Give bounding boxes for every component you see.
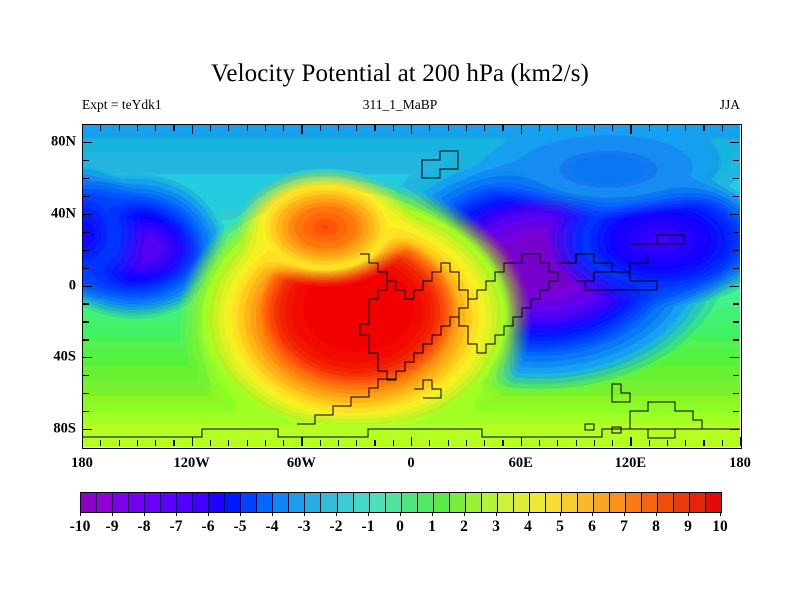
colorbar: [80, 492, 722, 513]
x-tick-bottom: [119, 440, 120, 446]
y-tick-left: [83, 339, 89, 340]
colorbar-band: [609, 493, 625, 512]
colorbar-band: [465, 493, 481, 512]
x-tick-bottom: [137, 440, 138, 446]
season-label: JJA: [0, 97, 740, 113]
x-tick-bottom: [411, 437, 412, 446]
colorbar-band: [112, 493, 128, 512]
colorbar-label: 1: [428, 518, 436, 536]
y-tick-left: [83, 411, 89, 412]
x-tick-top: [100, 125, 101, 131]
colorbar-tick: [464, 512, 465, 516]
y-tick-left: [83, 214, 92, 215]
colorbar-band: [192, 493, 208, 512]
x-tick-top: [192, 125, 193, 134]
colorbar-label: -4: [266, 518, 279, 536]
colorbar-label: -6: [202, 518, 215, 536]
x-tick-top: [228, 125, 229, 131]
colorbar-tick: [304, 512, 305, 516]
colorbar-band: [304, 493, 320, 512]
x-tick-top: [374, 125, 375, 131]
x-tick-bottom: [667, 440, 668, 446]
colorbar-band: [433, 493, 449, 512]
x-tick-bottom: [703, 440, 704, 446]
x-tick-bottom: [466, 440, 467, 446]
colorbar-band: [224, 493, 240, 512]
colorbar-band: [81, 493, 96, 512]
colorbar-band: [529, 493, 545, 512]
x-tick-bottom: [338, 440, 339, 446]
colorbar-band: [625, 493, 641, 512]
x-tick-bottom: [557, 440, 558, 446]
y-tick-left: [83, 393, 89, 394]
colorbar-label: 4: [524, 518, 532, 536]
x-axis-label: 120E: [615, 455, 646, 472]
x-axis-label: 60E: [509, 455, 533, 472]
colorbar-tick: [336, 512, 337, 516]
y-tick-left: [83, 286, 92, 287]
colorbar-tick: [560, 512, 561, 516]
y-tick-right: [733, 196, 739, 197]
y-axis-label: 40S: [32, 349, 76, 366]
x-tick-top: [484, 125, 485, 131]
y-tick-right: [730, 214, 739, 215]
colorbar-band: [673, 493, 689, 512]
y-tick-right: [730, 286, 739, 287]
velocity-potential-map: [82, 124, 740, 447]
colorbar-band: [369, 493, 385, 512]
colorbar-labels: -10-9-8-7-6-5-4-3-2-1012345678910: [80, 518, 720, 540]
colorbar-label: -10: [70, 518, 91, 536]
y-tick-right: [730, 142, 739, 143]
x-tick-top: [521, 125, 522, 134]
colorbar-band: [689, 493, 705, 512]
y-tick-left: [83, 160, 89, 161]
colorbar-band: [385, 493, 401, 512]
colorbar-band: [481, 493, 497, 512]
x-tick-top: [576, 125, 577, 131]
colorbar-band: [240, 493, 256, 512]
y-tick-right: [733, 375, 739, 376]
x-tick-bottom: [429, 440, 430, 446]
colorbar-tick: [208, 512, 209, 516]
x-tick-bottom: [448, 440, 449, 446]
x-tick-bottom: [539, 440, 540, 446]
x-tick-bottom: [265, 440, 266, 446]
colorbar-label: -7: [170, 518, 183, 536]
y-tick-left: [83, 178, 89, 179]
x-tick-bottom: [576, 440, 577, 446]
colorbar-band: [417, 493, 433, 512]
colorbar-band: [337, 493, 353, 512]
x-tick-bottom: [210, 440, 211, 446]
colorbar-tick: [112, 512, 113, 516]
colorbar-tick: [368, 512, 369, 516]
x-tick-top: [283, 125, 284, 131]
x-tick-top: [612, 125, 613, 131]
x-tick-top: [320, 125, 321, 131]
colorbar-tick: [528, 512, 529, 516]
x-tick-top: [667, 125, 668, 131]
x-tick-top: [630, 125, 631, 134]
x-tick-top: [539, 125, 540, 131]
x-tick-bottom: [612, 440, 613, 446]
y-tick-right: [733, 411, 739, 412]
y-tick-right: [733, 321, 739, 322]
colorbar-band: [705, 493, 721, 512]
colorbar-label: -9: [106, 518, 119, 536]
x-tick-bottom: [722, 440, 723, 446]
x-tick-top: [594, 125, 595, 131]
x-tick-bottom: [228, 440, 229, 446]
colorbar-band: [561, 493, 577, 512]
page-title: Velocity Potential at 200 hPa (km2/s): [0, 60, 800, 88]
colorbar-band: [513, 493, 529, 512]
colorbar-tick: [240, 512, 241, 516]
x-tick-bottom: [374, 440, 375, 446]
x-tick-top: [173, 125, 174, 131]
y-tick-left: [83, 232, 89, 233]
y-tick-right: [733, 339, 739, 340]
x-tick-bottom: [521, 437, 522, 446]
y-tick-left: [83, 321, 89, 322]
x-tick-top: [265, 125, 266, 131]
colorbar-band: [641, 493, 657, 512]
x-tick-bottom: [630, 437, 631, 446]
x-tick-bottom: [82, 437, 83, 446]
x-tick-bottom: [283, 440, 284, 446]
y-axis-label: 0: [32, 277, 76, 294]
x-tick-bottom: [155, 440, 156, 446]
x-tick-top: [448, 125, 449, 131]
y-tick-right: [733, 268, 739, 269]
colorbar-band: [272, 493, 288, 512]
colorbar-band: [96, 493, 112, 512]
x-tick-top: [466, 125, 467, 131]
y-tick-right: [733, 178, 739, 179]
y-tick-left: [83, 268, 89, 269]
x-tick-top: [502, 125, 503, 131]
x-tick-bottom: [173, 440, 174, 446]
x-tick-bottom: [320, 440, 321, 446]
colorbar-label: -3: [298, 518, 311, 536]
colorbar-label: 10: [712, 518, 728, 536]
colorbar-tick: [496, 512, 497, 516]
x-tick-top: [301, 125, 302, 134]
colorbar-label: -2: [330, 518, 343, 536]
x-tick-top: [429, 125, 430, 131]
x-tick-top: [210, 125, 211, 131]
x-tick-bottom: [685, 440, 686, 446]
x-tick-top: [247, 125, 248, 131]
y-tick-left: [83, 357, 92, 358]
x-tick-top: [649, 125, 650, 131]
y-axis-labels: 80N40N040S80S: [26, 124, 76, 447]
x-tick-top: [685, 125, 686, 131]
x-tick-bottom: [594, 440, 595, 446]
x-axis-labels: 180120W60W060E120E180: [82, 455, 740, 475]
y-tick-right: [730, 429, 739, 430]
y-tick-left: [83, 142, 92, 143]
colorbar-tick: [592, 512, 593, 516]
x-tick-bottom: [192, 437, 193, 446]
colorbar-label: 5: [556, 518, 564, 536]
colorbar-label: -8: [138, 518, 151, 536]
x-tick-bottom: [649, 440, 650, 446]
x-tick-bottom: [356, 440, 357, 446]
colorbar-band: [208, 493, 224, 512]
colorbar-label: 8: [652, 518, 660, 536]
colorbar-label: 7: [620, 518, 628, 536]
x-tick-top: [722, 125, 723, 131]
colorbar-tick: [80, 512, 81, 516]
x-tick-top: [137, 125, 138, 131]
colorbar-band: [144, 493, 160, 512]
y-tick-right: [733, 303, 739, 304]
y-axis-label: 80N: [32, 133, 76, 150]
y-tick-right: [733, 250, 739, 251]
colorbar-band: [401, 493, 417, 512]
x-axis-label: 120W: [174, 455, 210, 472]
x-axis-label: 60W: [287, 455, 316, 472]
y-tick-right: [733, 393, 739, 394]
colorbar-band: [176, 493, 192, 512]
colorbar-band: [128, 493, 144, 512]
colorbar-tick: [688, 512, 689, 516]
x-tick-top: [119, 125, 120, 131]
y-axis-label: 80S: [32, 421, 76, 438]
y-tick-right: [733, 160, 739, 161]
x-tick-top: [557, 125, 558, 131]
colorbar-band: [497, 493, 513, 512]
x-axis-label: 0: [407, 455, 414, 472]
colorbar-tick: [272, 512, 273, 516]
y-tick-left: [83, 250, 89, 251]
x-tick-top: [393, 125, 394, 131]
colorbar-label: -1: [362, 518, 375, 536]
x-tick-bottom: [301, 437, 302, 446]
x-tick-bottom: [740, 437, 741, 446]
y-tick-right: [733, 232, 739, 233]
colorbar-tick: [720, 512, 721, 516]
colorbar-tick: [432, 512, 433, 516]
colorbar-label: 9: [684, 518, 692, 536]
colorbar-label: 6: [588, 518, 596, 536]
x-tick-top: [338, 125, 339, 131]
colorbar-band: [657, 493, 673, 512]
colorbar-band: [320, 493, 336, 512]
x-tick-bottom: [484, 440, 485, 446]
colorbar-tick: [624, 512, 625, 516]
y-tick-right: [730, 357, 739, 358]
colorbar-band: [256, 493, 272, 512]
y-tick-left: [83, 196, 89, 197]
x-tick-top: [356, 125, 357, 131]
x-tick-top: [411, 125, 412, 134]
colorbar-label: 0: [396, 518, 404, 536]
colorbar-band: [577, 493, 593, 512]
y-axis-label: 40N: [32, 205, 76, 222]
coastline-overlay: [82, 124, 740, 447]
x-axis-label: 180: [729, 455, 751, 472]
y-tick-left: [83, 429, 92, 430]
x-tick-bottom: [247, 440, 248, 446]
colorbar-band: [449, 493, 465, 512]
x-tick-top: [703, 125, 704, 131]
colorbar-band: [160, 493, 176, 512]
colorbar-band: [353, 493, 369, 512]
x-tick-bottom: [393, 440, 394, 446]
x-axis-label: 180: [71, 455, 93, 472]
colorbar-label: 2: [460, 518, 468, 536]
x-tick-top: [155, 125, 156, 131]
colorbar-tick: [176, 512, 177, 516]
y-tick-left: [83, 303, 89, 304]
colorbar-tick: [656, 512, 657, 516]
x-tick-bottom: [100, 440, 101, 446]
colorbar-label: 3: [492, 518, 500, 536]
y-tick-left: [83, 375, 89, 376]
colorbar-label: -5: [234, 518, 247, 536]
x-tick-bottom: [502, 440, 503, 446]
colorbar-band: [593, 493, 609, 512]
colorbar-tick: [144, 512, 145, 516]
colorbar-band: [288, 493, 304, 512]
colorbar-band: [545, 493, 561, 512]
colorbar-tick: [400, 512, 401, 516]
